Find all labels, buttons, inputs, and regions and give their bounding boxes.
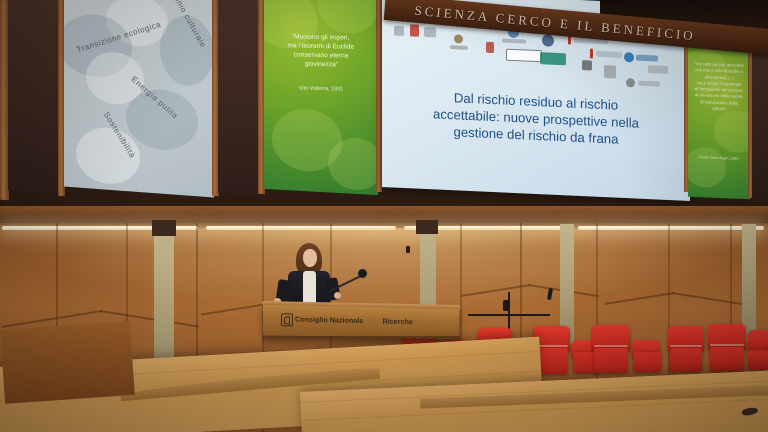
seat-rail <box>710 344 744 346</box>
decor-circle <box>126 87 198 152</box>
logo-ente-1 <box>604 65 616 79</box>
quote-attribution: Vito Volterra, 1931 <box>272 85 370 93</box>
lectern-brand-text: Consiglio Nazionale delle Ricerche <box>295 315 413 327</box>
presenter-face <box>303 249 317 267</box>
seat-cushion <box>670 348 702 372</box>
seat-rail <box>670 345 702 347</box>
presenter-hand <box>334 292 341 299</box>
slide-title: Dal rischio residuo al rischio accettabi… <box>398 88 674 151</box>
lower-wall-left-extension <box>0 321 135 404</box>
decor-circle <box>714 110 750 154</box>
logo-ente-3-text <box>638 81 660 87</box>
wall-light-glow <box>0 228 768 314</box>
logo-protezione-caption <box>502 38 526 43</box>
logo-universita-1 <box>454 34 463 43</box>
acoustic-panel-middle <box>218 0 260 195</box>
decor-circle <box>328 136 378 191</box>
logo-ispra-text <box>636 55 658 62</box>
logo-ispra-mark <box>624 52 634 62</box>
wall-vent <box>416 220 438 234</box>
seat <box>748 330 768 352</box>
logo-ministero-mark <box>542 34 554 47</box>
logo-regione-2 <box>424 27 436 38</box>
logo-arpa <box>540 52 566 65</box>
microphone-stand-boom <box>468 314 550 316</box>
wall-cornice <box>0 206 768 223</box>
logo-trentino <box>410 24 419 36</box>
conference-hall-photo: Transizione ecologica Patrimonio cultura… <box>0 0 768 432</box>
seat-rail <box>594 345 628 347</box>
wall-fixture <box>406 246 410 253</box>
logo-ente-3 <box>626 78 635 87</box>
acoustic-panel-right <box>752 36 768 202</box>
brand-primary: Consiglio Nazionale <box>295 315 363 326</box>
decor-circle <box>318 0 378 35</box>
logo-ministero-text <box>596 51 622 58</box>
quote-text: "Muoiono gli imperi, ma i teoremi di Euc… <box>271 33 370 71</box>
logo-ministero-bar <box>590 48 593 58</box>
logo-regione-1 <box>394 26 404 36</box>
volterra-quote-panel: "Muoiono gli imperi, ma i teoremi di Euc… <box>264 0 378 195</box>
quote-text: "Voi siete qui per arricchire che non è … <box>691 61 747 114</box>
acoustic-panel-left <box>8 0 60 194</box>
seat-rail <box>536 345 568 347</box>
microphone-head <box>503 300 509 311</box>
decor-circle <box>688 147 726 189</box>
podium-microphone-head <box>358 269 367 278</box>
presenter-shirt <box>303 271 316 303</box>
brand-middle: delle <box>365 316 380 325</box>
logo-consiglio-regionale <box>506 49 540 61</box>
logo-ordine-geologi <box>486 42 494 53</box>
seat-cushion <box>748 350 768 370</box>
logo-universita-caption <box>450 45 468 50</box>
cnr-emblem <box>281 313 293 326</box>
sustainability-graphic-panel: Transizione ecologica Patrimonio cultura… <box>64 0 214 198</box>
seat-cushion <box>710 347 744 371</box>
seat-cushion <box>633 352 661 372</box>
lectern[interactable]: Consiglio Nazionale delle Ricerche <box>263 305 459 339</box>
logo-qr <box>582 60 592 70</box>
seat-cushion <box>594 348 628 373</box>
wall-vent <box>152 220 176 236</box>
secondary-quote-panel: "Voi siete qui per arricchire che non è … <box>688 39 750 199</box>
logo-ente-2 <box>648 65 668 74</box>
brand-suffix: Ricerche <box>382 316 412 326</box>
